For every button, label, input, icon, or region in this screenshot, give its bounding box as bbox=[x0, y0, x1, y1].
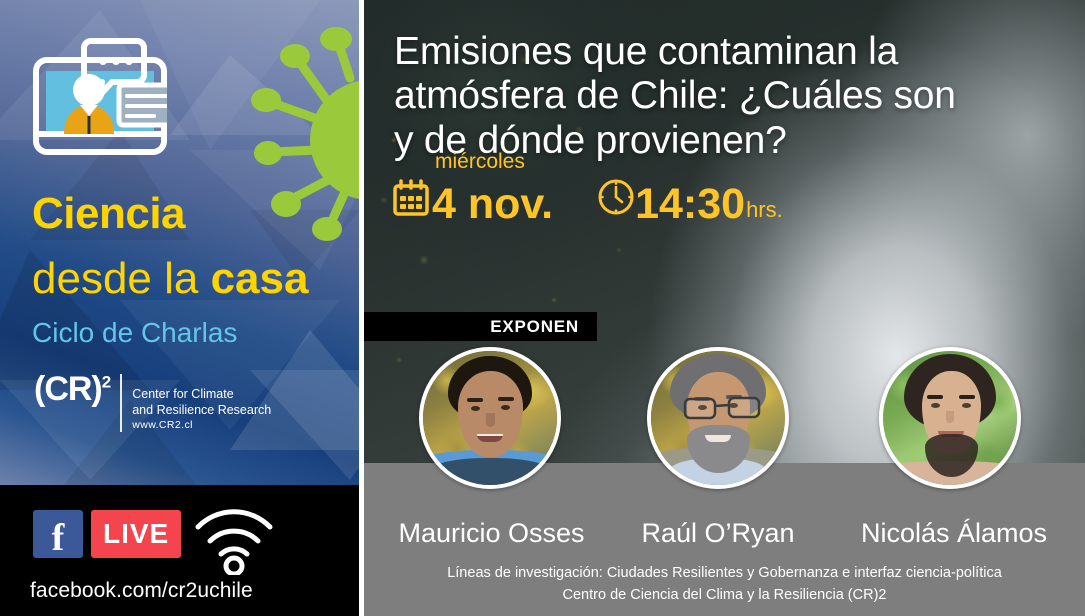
facebook-glyph: f bbox=[52, 523, 65, 555]
time-group: 14:30 hrs. bbox=[597, 178, 783, 225]
brand-title-line2-bold: casa bbox=[211, 254, 309, 303]
title-line-2: atmósfera de Chile: ¿Cuáles son bbox=[394, 74, 1064, 118]
date-label: 4 nov. bbox=[432, 185, 553, 225]
title-line-1: Emisiones que contaminan la bbox=[394, 30, 1064, 74]
avatar bbox=[647, 347, 789, 489]
brand-title-line2: desde la casa bbox=[32, 257, 352, 301]
footer-line-2: Centro de Ciencia del Clima y la Resilie… bbox=[364, 584, 1085, 606]
time-label: 14:30 bbox=[635, 185, 745, 225]
brand-title-line2-plain: desde la bbox=[32, 254, 211, 303]
cr2-logo-name: Center for Climate and Resilience Resear… bbox=[132, 372, 271, 432]
clock-icon bbox=[597, 178, 635, 221]
speaker-name: Raúl O’Ryan bbox=[632, 520, 804, 547]
speaker-photo-3 bbox=[883, 351, 1017, 485]
speakers-row bbox=[364, 347, 1085, 522]
live-badge: LIVE bbox=[91, 510, 181, 558]
wifi-broadcast-icon bbox=[192, 499, 276, 580]
cr2-name-line1: Center for Climate bbox=[132, 386, 271, 402]
calendar-icon bbox=[392, 179, 430, 222]
avatar bbox=[419, 347, 561, 489]
webinar-icon bbox=[33, 38, 167, 167]
date-group: miércoles 4 nov. bbox=[392, 179, 553, 225]
right-content-panel: Emisiones que contaminan la atmósfera de… bbox=[364, 0, 1085, 616]
brand-block: Ciencia desde la casa Ciclo de Charlas bbox=[32, 192, 352, 347]
schedule-row: miércoles 4 nov. bbox=[392, 178, 783, 225]
brand-subtitle: Ciclo de Charlas bbox=[32, 319, 352, 347]
speaker-photo-1 bbox=[423, 351, 557, 485]
speaker-photo-2 bbox=[651, 351, 785, 485]
speaker-card bbox=[879, 347, 1021, 489]
speaker-card bbox=[647, 347, 789, 489]
avatar bbox=[879, 347, 1021, 489]
cr2-website-url: www.CR2.cl bbox=[132, 419, 271, 432]
speaker-name: Mauricio Osses bbox=[394, 520, 589, 547]
exponen-badge: EXPONEN bbox=[364, 312, 597, 341]
cr2-logo-mark-text: (CR) bbox=[34, 370, 102, 408]
footer-line-1: Líneas de investigación: Ciudades Resili… bbox=[364, 562, 1085, 584]
facebook-live-badge[interactable]: f LIVE bbox=[33, 510, 181, 558]
speaker-name: Nicolás Álamos bbox=[849, 520, 1059, 547]
event-poster: Ciencia desde la casa Ciclo de Charlas (… bbox=[0, 0, 1085, 616]
live-label: LIVE bbox=[103, 518, 169, 550]
page-title: Emisiones que contaminan la atmósfera de… bbox=[394, 30, 1064, 163]
cr2-logo: (CR)2 Center for Climate and Resilience … bbox=[34, 372, 271, 432]
left-branding-panel: Ciencia desde la casa Ciclo de Charlas (… bbox=[0, 0, 359, 616]
time-suffix-label: hrs. bbox=[746, 199, 783, 221]
social-strip: f LIVE facebook.com/cr2uchile bbox=[0, 485, 359, 616]
brand-title-line1: Ciencia bbox=[32, 192, 352, 236]
speaker-card bbox=[419, 347, 561, 489]
cr2-logo-mark: (CR)2 bbox=[34, 372, 110, 406]
weekday-label: miércoles bbox=[435, 151, 525, 172]
footer-research-lines: Líneas de investigación: Ciudades Resili… bbox=[364, 562, 1085, 607]
exponen-label: EXPONEN bbox=[490, 317, 579, 337]
facebook-icon[interactable]: f bbox=[33, 510, 83, 558]
cr2-name-line2: and Resilience Research bbox=[132, 402, 271, 418]
cr2-logo-mark-superscript: 2 bbox=[102, 373, 110, 392]
facebook-url[interactable]: facebook.com/cr2uchile bbox=[30, 579, 253, 603]
logo-divider bbox=[120, 374, 122, 432]
